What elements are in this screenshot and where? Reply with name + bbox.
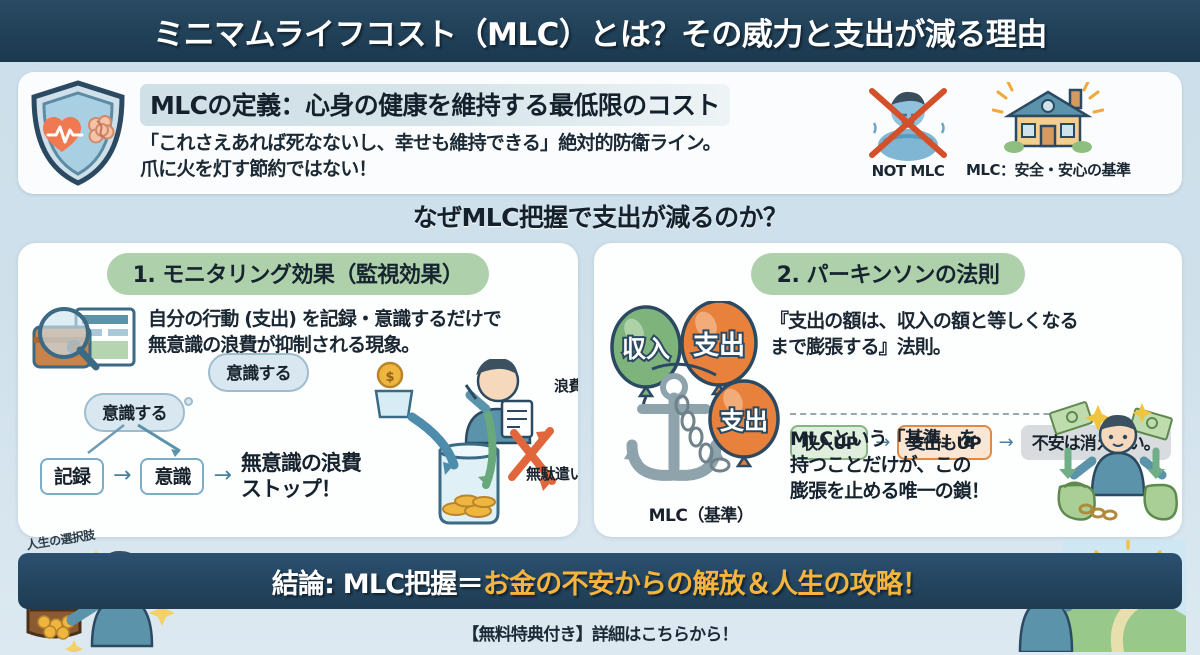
flow-row: 記録 → 意識 → 無意識の浪費 ストップ！: [40, 450, 361, 503]
chip-arrow-2: →: [999, 434, 1014, 452]
panel-2-body-line1: MLCという「基準」を: [790, 428, 977, 450]
shield-icon-wrap: [18, 79, 138, 187]
panel-2-quote-line1: 『支出の額は、収入の額と等しくなる: [770, 310, 1078, 332]
definition-heading: MLCの定義：心身の健康を維持する最低限のコスト: [140, 84, 730, 126]
definition-text: MLCの定義：心身の健康を維持する最低限のコスト 「これさえあれば死なないし、幸…: [138, 84, 864, 182]
panel-2-quote-line2: まで膨張する』法則。: [770, 336, 951, 358]
conclusion-prefix: 結論: MLC把握＝: [272, 569, 483, 600]
panel-2-body-line3: 膨張を止める唯一の鎖！: [790, 480, 989, 502]
panel-1-lead-line1: 自分の行動 (支出) を記録・意識するだけで: [148, 308, 501, 330]
panel-2-body: 収入 支出 『支出の額は、収入の額と等しくなる まで膨張する』法則。 収入UP …: [594, 295, 1182, 537]
not-mlc-caption: NOT MLC: [872, 162, 945, 180]
house-sunrays-icon: [992, 82, 1104, 158]
thought-bubble-2: 意識する: [208, 353, 309, 392]
shivering-person-crossed-out-icon: [864, 85, 952, 161]
flow-arrow-2: →: [213, 465, 231, 487]
not-mlc-item: NOT MLC: [864, 85, 952, 180]
panel-2-title: 2. パーキンソンの法則: [751, 253, 1026, 295]
magnifier-wallet-receipt-icon: [30, 303, 144, 387]
svg-text:$: $: [385, 370, 394, 385]
panel-2-body-line2: 持つことだけが、この: [790, 454, 971, 476]
mlc-standard-caption: MLC：安全・安心の基準: [966, 159, 1131, 180]
definition-sub-line2: 爪に火を灯す節約ではない！: [140, 157, 858, 182]
svg-text:支出: 支出: [720, 407, 768, 435]
conclusion-text: 結論: MLC把握＝お金の不安からの解放＆人生の攻略！: [272, 562, 929, 601]
thought-bubble-2-label: 意識する: [208, 353, 309, 392]
flow-result-line2: ストップ！: [241, 477, 341, 501]
flow-result-line1: 無意識の浪費: [241, 451, 361, 475]
anchor-caption: MLC（基準）: [612, 501, 790, 526]
flow-result: 無意識の浪費 ストップ！: [241, 450, 361, 503]
anchor-chain-icon: 支出: [612, 361, 792, 503]
mlc-standard-item: MLC：安全・安心の基準: [966, 82, 1131, 180]
panel-parkinsons-law: 2. パーキンソンの法則 収入 支出 『支出の額は、収入の額と等しくなる: [594, 243, 1182, 537]
footer-cta[interactable]: 【無料特典付き】詳細はこちらから！: [0, 620, 1200, 645]
svg-text:収入: 収入: [622, 335, 670, 363]
panel-1-lead: 自分の行動 (支出) を記録・意識するだけで 無意識の浪費が抑制される現象。: [148, 303, 501, 358]
label-waste-2: 無駄遣い: [526, 463, 578, 484]
definition-card: MLCの定義：心身の健康を維持する最低限のコスト 「これさえあれば死なないし、幸…: [18, 72, 1182, 194]
flow-arrow-1: →: [113, 465, 131, 487]
conclusion-highlight: お金の不安からの解放＆人生の攻略！: [483, 569, 928, 600]
definition-sub-line1: 「これさえあれば死なないし、幸せも維持できる」絶対的防衛ライン。: [140, 131, 858, 156]
shield-heart-brain-icon: [26, 79, 130, 187]
panel-monitoring-effect: 1. モニタリング効果（監視効果） 自分の行動 (支出) を記録・意: [18, 243, 578, 537]
svg-text:支出: 支出: [693, 331, 745, 361]
definition-icons: NOT MLC MLC：安全・安心の基準: [864, 82, 1182, 184]
label-waste-1: 浪費: [554, 375, 578, 396]
conclusion-banner: 結論: MLC把握＝お金の不安からの解放＆人生の攻略！: [18, 553, 1182, 609]
panel-1-title: 1. モニタリング効果（監視効果）: [107, 253, 490, 295]
dashed-divider: [790, 413, 1090, 415]
magnifier-wallet-receipt-icon-wrap: [30, 303, 148, 391]
panel-2-quote: 『支出の額は、収入の額と等しくなる まで膨張する』法則。: [770, 301, 1078, 360]
thought-dot-large: [184, 397, 193, 406]
panel-2-body-text: MLCという「基準」を 持つことだけが、この 膨張を止める唯一の鎖！: [790, 427, 989, 504]
coin-jar-person-art: $: [362, 359, 570, 537]
person-money-bag-chain-icon: [1046, 399, 1178, 527]
page-title: ミニマムライフコスト（MLC）とは？その威力と支出が減る理由: [153, 9, 1047, 54]
why-heading: なぜMLC把握で支出が減るのか？: [0, 198, 1200, 234]
panel-1-body: 自分の行動 (支出) を記録・意識するだけで 無意識の浪費が抑制される現象。 意…: [18, 295, 578, 537]
flow-box-awareness: 意識: [140, 458, 204, 495]
header-bar: ミニマムライフコスト（MLC）とは？その威力と支出が減る理由: [0, 0, 1200, 62]
flow-box-record: 記録: [40, 458, 104, 495]
